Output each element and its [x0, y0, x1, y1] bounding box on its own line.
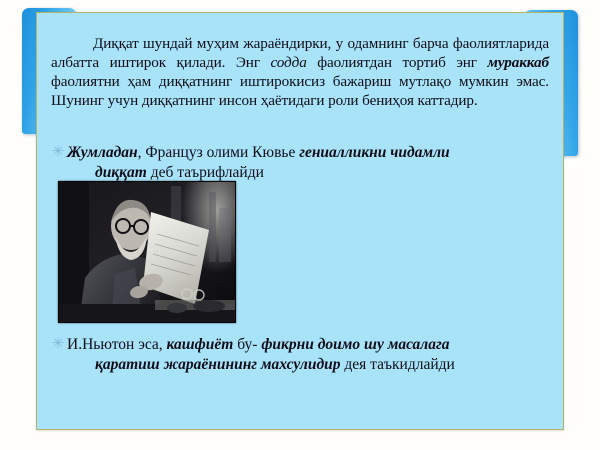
intro-emphasis-sodda: содда	[271, 54, 307, 71]
bullet2-emphasis-kashfiyot: кашфиёт	[167, 336, 234, 353]
scholar-photograph: black-and-white photograph of an elderly…	[58, 181, 236, 323]
asterisk-bullet-icon: ✳	[49, 143, 67, 163]
bullet1-text-middle: , Француз олими Кювье	[138, 144, 300, 161]
intro-emphasis-murakkab: мураккаб	[487, 54, 549, 71]
bullet2-second-line: қаратиш жараёнининг махсулидир дея таъки…	[67, 355, 557, 375]
bullet1-text-tail: деб таърифлайди	[147, 164, 264, 181]
intro-text-part-3: фаолиятни ҳам диққатнинг иштирокисиз баж…	[51, 73, 549, 109]
bullet-item-cuvier: ✳ Жумладан, Француз олими Кювье гениалли…	[49, 143, 557, 183]
bullet2-text-tail: дея таъкидлайди	[341, 356, 455, 373]
bullet1-emphasis-genius: гениалликни чидамли	[299, 144, 449, 161]
bullet-item-newton: ✳ И.Ньютон эса, кашфиёт бу- фикрни доимо…	[49, 335, 557, 375]
bullet2-text-lead: И.Ньютон эса,	[67, 336, 167, 353]
bullet1-emphasis-jumladan: Жумладан	[67, 144, 138, 161]
bullet2-text-middle: бу-	[233, 336, 261, 353]
bullet-item-cuvier-text: Жумладан, Француз олими Кювье гениалликн…	[67, 143, 557, 183]
intro-text-part-2: фаолиятдан тортиб энг	[307, 54, 488, 71]
content-panel: Диққат шундай муҳим жараёндирки, у одамн…	[36, 12, 564, 430]
content-panel-inner: Диққат шундай муҳим жараёндирки, у одамн…	[37, 13, 563, 429]
bullet-item-newton-text: И.Ньютон эса, кашфиёт бу- фикрни доимо ш…	[67, 335, 557, 375]
bullet2-emphasis-phrase-line1: фикрни доимо шу масалага	[261, 336, 449, 353]
bullet2-emphasis-phrase-line2: қаратиш жараёнининг махсулидир	[95, 356, 341, 373]
presentation-slide: Диққат шундай муҳим жараёндирки, у одамн…	[0, 0, 600, 450]
intro-paragraph: Диққат шундай муҳим жараёндирки, у одамн…	[51, 34, 549, 110]
bullet1-emphasis-diqqat: диққат	[95, 164, 147, 181]
asterisk-bullet-icon: ✳	[49, 335, 67, 355]
